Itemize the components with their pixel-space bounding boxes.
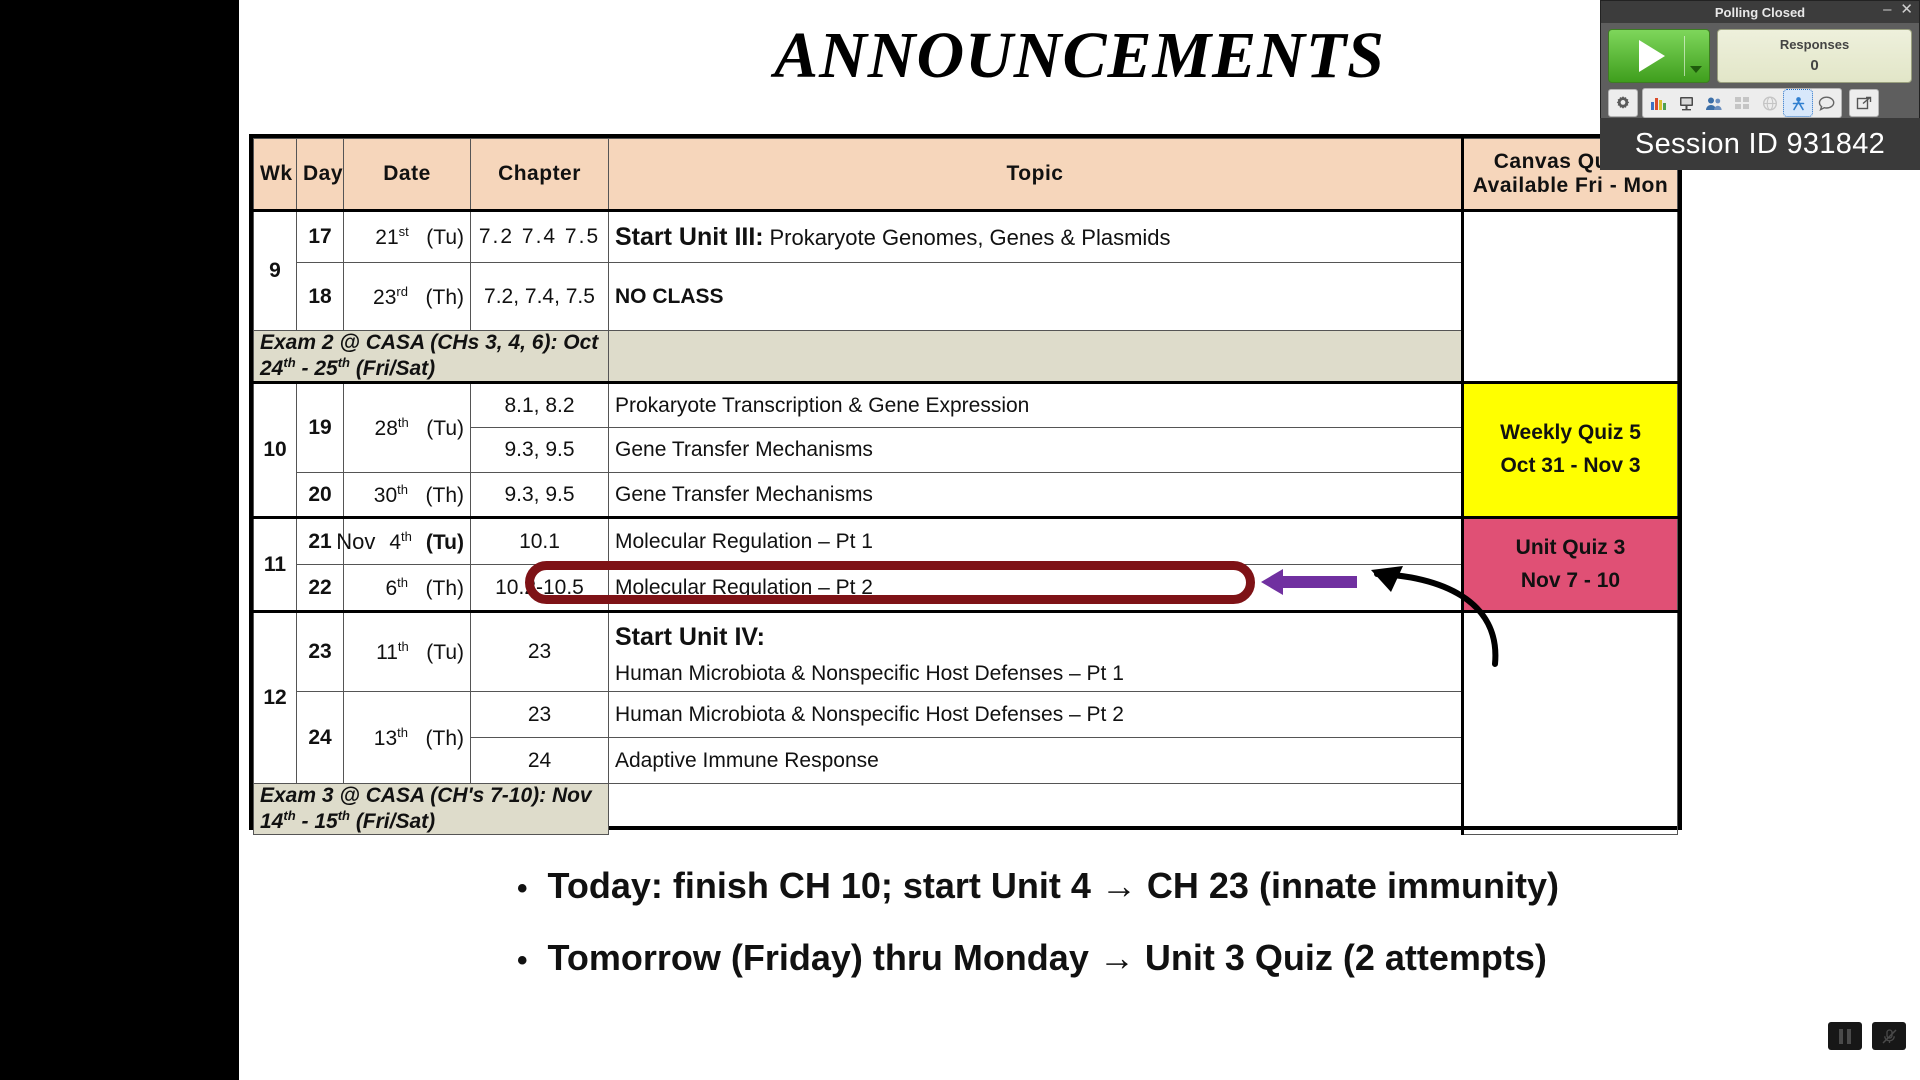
date-dow: (Tu)	[426, 641, 464, 664]
media-controls[interactable]	[1828, 1022, 1906, 1050]
day-number: 23	[297, 612, 344, 692]
date-ordinal: th	[397, 725, 408, 740]
table-row: 12 23 11th (Tu) 23 Start Unit IV: Human …	[254, 612, 1678, 692]
date-ordinal: th	[398, 415, 409, 430]
people-icon[interactable]	[1700, 90, 1728, 116]
date-cell: 11th (Tu)	[344, 612, 471, 692]
list-item: • Today: finish CH 10; start Unit 4 → CH…	[517, 868, 1877, 904]
chapter-cell: 9.3, 9.5	[471, 428, 609, 473]
quiz-cell	[1463, 612, 1678, 835]
topic-cell: NO CLASS	[609, 263, 1463, 331]
date-dow: (Tu)	[426, 531, 464, 555]
chapter-cell: 10.2-10.5	[471, 565, 609, 612]
date-dow: (Th)	[426, 577, 465, 600]
topic-text: Prokaryote Genomes, Genes & Plasmids	[769, 225, 1170, 250]
button-divider	[1684, 36, 1685, 76]
topic-bold: Start Unit IV:	[615, 623, 1455, 652]
week-number: 11	[254, 518, 297, 612]
topic-bold: Start Unit III:	[615, 223, 764, 251]
date-cell: 28th (Tu)	[344, 383, 471, 473]
week-number: 9	[254, 211, 297, 331]
day-number: 18	[297, 263, 344, 331]
grid-icon	[1728, 90, 1756, 116]
date-number: 30	[374, 484, 397, 507]
date-ordinal: st	[399, 224, 409, 239]
comment-icon[interactable]	[1812, 90, 1840, 116]
table-header-row: Wk Day Date Chapter Topic Canvas Quiz D …	[254, 139, 1678, 211]
chapter-cell: 7.2 7.4 7.5	[471, 211, 609, 263]
day-number: 22	[297, 565, 344, 612]
header-topic: Topic	[609, 139, 1463, 211]
bullet-list: • Today: finish CH 10; start Unit 4 → CH…	[517, 868, 1877, 1012]
date-number: 28	[375, 417, 398, 440]
exam-text-c: (Fri/Sat)	[350, 357, 435, 380]
header-date: Date	[344, 139, 471, 211]
microphone-muted-icon	[1881, 1028, 1898, 1045]
date-cell: 23rd (Th)	[344, 263, 471, 331]
table-row: 11 21 Nov 4th (Tu) 10.1 Molecular Regula…	[254, 518, 1678, 565]
schedule-table-wrapper: Wk Day Date Chapter Topic Canvas Quiz D …	[249, 134, 1682, 830]
microphone-mute-button[interactable]	[1872, 1022, 1906, 1050]
date-dow: (Th)	[426, 727, 465, 750]
chapter-cell: 10.1	[471, 518, 609, 565]
date-ordinal: th	[401, 529, 412, 544]
person-icon[interactable]	[1784, 90, 1812, 116]
day-number: 19	[297, 383, 344, 473]
quiz-cell-unit: Unit Quiz 3 Nov 7 - 10	[1463, 518, 1678, 612]
exam-row-spacer	[609, 331, 1463, 383]
date-dow: (Th)	[426, 484, 465, 507]
topic-text: Human Microbiota & Nonspecific Host Defe…	[615, 662, 1455, 686]
exam-sup1: th	[283, 808, 295, 823]
quiz-line2: Nov 7 - 10	[1470, 565, 1671, 598]
quiz-cell	[1463, 211, 1678, 383]
date-number: 23	[373, 286, 396, 309]
start-polling-button[interactable]	[1608, 29, 1710, 83]
date-cell: 21st (Tu)	[344, 211, 471, 263]
date-dow: (Tu)	[426, 226, 464, 249]
quiz-line2: Oct 31 - Nov 3	[1470, 450, 1671, 483]
responses-count: 0	[1810, 55, 1818, 77]
exam-text: Exam 3 @ CASA (CH's 7-10): Nov 14th - 15…	[254, 784, 609, 835]
chapter-cell: 8.1, 8.2	[471, 383, 609, 428]
header-wk: Wk	[254, 139, 297, 211]
topic-cell: Human Microbiota & Nonspecific Host Defe…	[609, 692, 1463, 738]
globe-icon	[1756, 90, 1784, 116]
minimize-icon[interactable]: –	[1883, 2, 1891, 17]
chapter-cell: 23	[471, 692, 609, 738]
date-dow: (Th)	[426, 286, 465, 309]
date-number-group: 4th	[389, 529, 412, 555]
session-id-display: Session ID 931842	[1600, 118, 1920, 170]
date-number: 13	[374, 727, 397, 750]
week-number: 12	[254, 612, 297, 784]
exam-text-b: - 15	[296, 810, 338, 833]
responses-label: Responses	[1780, 36, 1849, 55]
polling-title: Polling Closed	[1715, 5, 1805, 20]
date-cell: 30th (Th)	[344, 473, 471, 518]
bullet-dot-icon: •	[517, 874, 528, 904]
date-ordinal: th	[397, 575, 408, 590]
polling-titlebar[interactable]: Polling Closed – ✕	[1601, 1, 1919, 23]
responses-button[interactable]: Responses 0	[1717, 29, 1912, 83]
header-day: Day	[297, 139, 344, 211]
polling-icon-group	[1642, 88, 1842, 118]
exam-text-c: (Fri/Sat)	[350, 810, 435, 833]
date-ordinal: rd	[396, 284, 408, 299]
bullet-text: Today: finish CH 10; start Unit 4 → CH 2…	[548, 868, 1559, 904]
topic-cell: Start Unit III: Prokaryote Genomes, Gene…	[609, 211, 1463, 263]
date-month: Nov	[334, 529, 375, 555]
polling-widget[interactable]: Polling Closed – ✕ Responses 0	[1600, 0, 1920, 124]
bullet-text: Tomorrow (Friday) thru Monday → Unit 3 Q…	[548, 940, 1547, 976]
chapter-cell: 24	[471, 738, 609, 784]
gear-icon[interactable]	[1608, 89, 1638, 117]
chapter-cell: 9.3, 9.5	[471, 473, 609, 518]
chapter-cell: 23	[471, 612, 609, 692]
chapter-cell: 7.2, 7.4, 7.5	[471, 263, 609, 331]
exam-text-b: - 25	[296, 357, 338, 380]
table-row: 10 19 28th (Tu) 8.1, 8.2 Prokaryote Tran…	[254, 383, 1678, 428]
date-dow: (Tu)	[426, 417, 464, 440]
header-chapter: Chapter	[471, 139, 609, 211]
day-number: 17	[297, 211, 344, 263]
quiz-cell-weekly: Weekly Quiz 5 Oct 31 - Nov 3	[1463, 383, 1678, 518]
list-item: • Tomorrow (Friday) thru Monday → Unit 3…	[517, 940, 1877, 976]
topic-cell: Adaptive Immune Response	[609, 738, 1463, 784]
monitor-icon[interactable]	[1672, 90, 1700, 116]
date-cell: 13th (Th)	[344, 692, 471, 784]
play-icon	[1639, 40, 1665, 72]
chevron-down-icon[interactable]	[1690, 66, 1702, 73]
week-number: 10	[254, 383, 297, 518]
date-number: 11	[376, 641, 398, 664]
topic-cell: Gene Transfer Mechanisms	[609, 428, 1463, 473]
table-row: 9 17 21st (Tu) 7.2 7.4 7.5 Start Unit II…	[254, 211, 1678, 263]
polling-toolbar	[1608, 88, 1912, 118]
bullet-dot-icon: •	[517, 946, 528, 976]
date-cell: Nov 4th (Tu)	[344, 518, 471, 565]
date-ordinal: th	[398, 639, 409, 654]
pause-icon	[1839, 1029, 1851, 1044]
close-icon[interactable]: ✕	[1900, 2, 1913, 17]
date-ordinal: th	[397, 482, 408, 497]
schedule-table: Wk Day Date Chapter Topic Canvas Quiz D …	[253, 138, 1678, 835]
exam-text: Exam 2 @ CASA (CHs 3, 4, 6): Oct 24th - …	[254, 331, 609, 383]
exam-sup1: th	[283, 355, 295, 370]
date-number: 21	[375, 226, 398, 249]
topic-cell: Gene Transfer Mechanisms	[609, 473, 1463, 518]
exam-sup2: th	[338, 355, 350, 370]
polling-main-buttons: Responses 0	[1608, 29, 1912, 83]
polling-body: Responses 0	[1601, 23, 1919, 123]
pause-button[interactable]	[1828, 1022, 1862, 1050]
header-canvas-quiz-line2: Available Fri - Mon	[1470, 174, 1671, 198]
quiz-line1: Weekly Quiz 5	[1470, 417, 1671, 450]
topic-cell: Molecular Regulation – Pt 2	[609, 565, 1463, 612]
date-number: 6	[385, 577, 397, 600]
day-number: 24	[297, 692, 344, 784]
date-number: 4	[389, 531, 401, 554]
topic-cell: Molecular Regulation – Pt 1	[609, 518, 1463, 565]
exam-sup2: th	[338, 808, 350, 823]
date-cell: 6th (Th)	[344, 565, 471, 612]
topic-cell: Prokaryote Transcription & Gene Expressi…	[609, 383, 1463, 428]
day-number: 20	[297, 473, 344, 518]
bar-chart-icon[interactable]	[1644, 90, 1672, 116]
topic-cell: Start Unit IV: Human Microbiota & Nonspe…	[609, 612, 1463, 692]
quiz-line1: Unit Quiz 3	[1470, 532, 1671, 565]
popout-icon[interactable]	[1849, 89, 1879, 117]
